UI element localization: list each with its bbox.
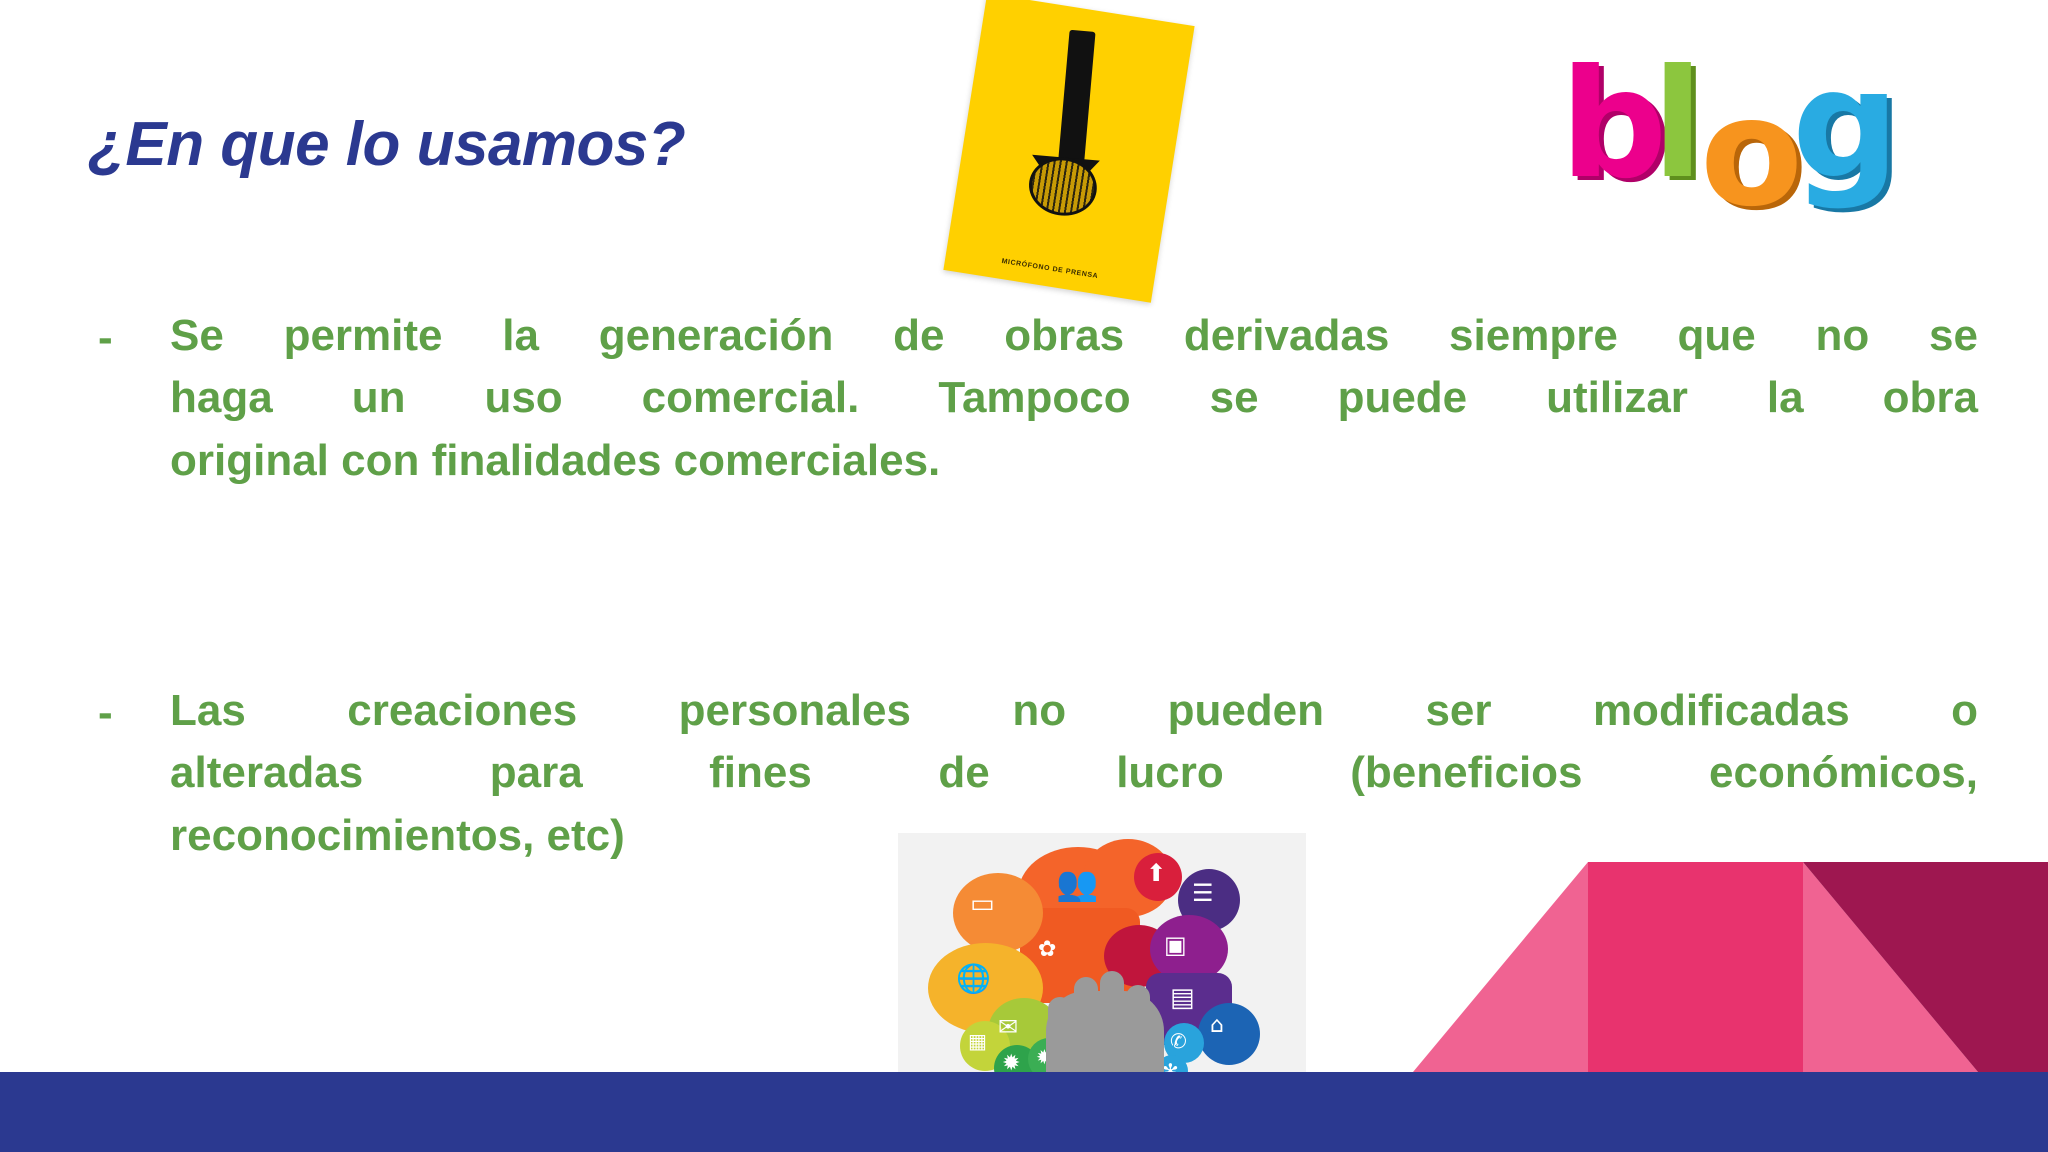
people-group-icon: 👥 <box>1056 867 1098 901</box>
yellow-microphone-poster-image: MICRÓFONO DE PRENSA <box>943 0 1194 303</box>
briefcase-icon: ▦ <box>968 1031 987 1051</box>
bullet-line: alteradasparafinesdelucro(beneficiosecon… <box>170 742 1978 804</box>
corner-rect-center <box>1588 862 1803 1072</box>
bullet-line: original con finalidades comerciales. <box>170 430 1978 492</box>
globe-icon: 🌐 <box>956 965 991 993</box>
corner-decoration <box>1358 862 2048 1072</box>
chat-bubble-icon: ☰ <box>1192 881 1214 905</box>
document-edit-icon: ▤ <box>1170 985 1195 1011</box>
ig-shape <box>953 873 1043 953</box>
laptop-icon: ▭ <box>970 891 995 917</box>
bullet-line: Sepermitelageneracióndeobrasderivadassie… <box>170 305 1978 367</box>
bullet-text-1: Sepermitelageneracióndeobrasderivadassie… <box>170 305 1978 492</box>
blog-letter-g: g <box>1792 50 1899 200</box>
blog-3d-letters-image: b l o g <box>1560 72 1940 212</box>
bullet-marker: - <box>98 305 170 369</box>
slide-canvas: ¿En que lo usamos? MICRÓFONO DE PRENSA b… <box>0 0 2048 1152</box>
blog-letter-o: o <box>1700 78 1803 228</box>
home-pin-icon: ⌂ <box>1210 1015 1224 1037</box>
corner-triangle-left <box>1413 862 1588 1072</box>
bullet-line: hagaunusocomercial.Tampocosepuedeutiliza… <box>170 367 1978 429</box>
bullet-line: Lascreacionespersonalesnopuedensermodifi… <box>170 680 1978 742</box>
corner-decoration-svg <box>1358 862 2048 1072</box>
ig-shape <box>1198 1003 1260 1065</box>
page-title: ¿En que lo usamos? <box>88 112 685 177</box>
footer-bar <box>0 1072 2048 1152</box>
upload-icon: ⬆ <box>1146 861 1166 885</box>
bullet-item-1: - Sepermitelageneracióndeobrasderivadass… <box>98 305 1978 492</box>
blog-letter-l: l <box>1652 50 1703 200</box>
bullet-marker: - <box>98 680 170 744</box>
gear-icon: ✿ <box>1038 939 1056 961</box>
cursor-click-icon: ▣ <box>1164 933 1187 957</box>
envelope-icon: ✉ <box>998 1015 1018 1039</box>
phone-icon: ✆ <box>1170 1031 1187 1051</box>
